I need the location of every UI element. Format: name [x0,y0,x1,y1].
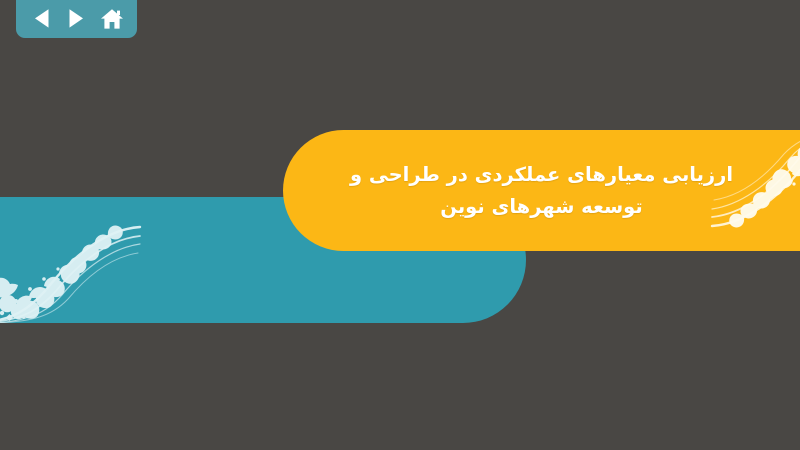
presentation-slide: ارزیابی معیارهای عملکردی در طراحی و توسع… [0,0,800,450]
home-slide-button[interactable] [99,6,125,31]
teal-arabesque-ornament-icon [0,223,142,323]
orange-banner-shape [283,130,800,251]
slide-navigation-toolbar[interactable] [16,0,137,38]
next-slide-button[interactable] [64,6,90,31]
previous-slide-button[interactable] [28,6,54,31]
home-icon [100,8,124,30]
orange-arabesque-ornament-icon [710,130,800,230]
triangle-right-icon [67,8,86,29]
triangle-left-icon [32,8,51,29]
